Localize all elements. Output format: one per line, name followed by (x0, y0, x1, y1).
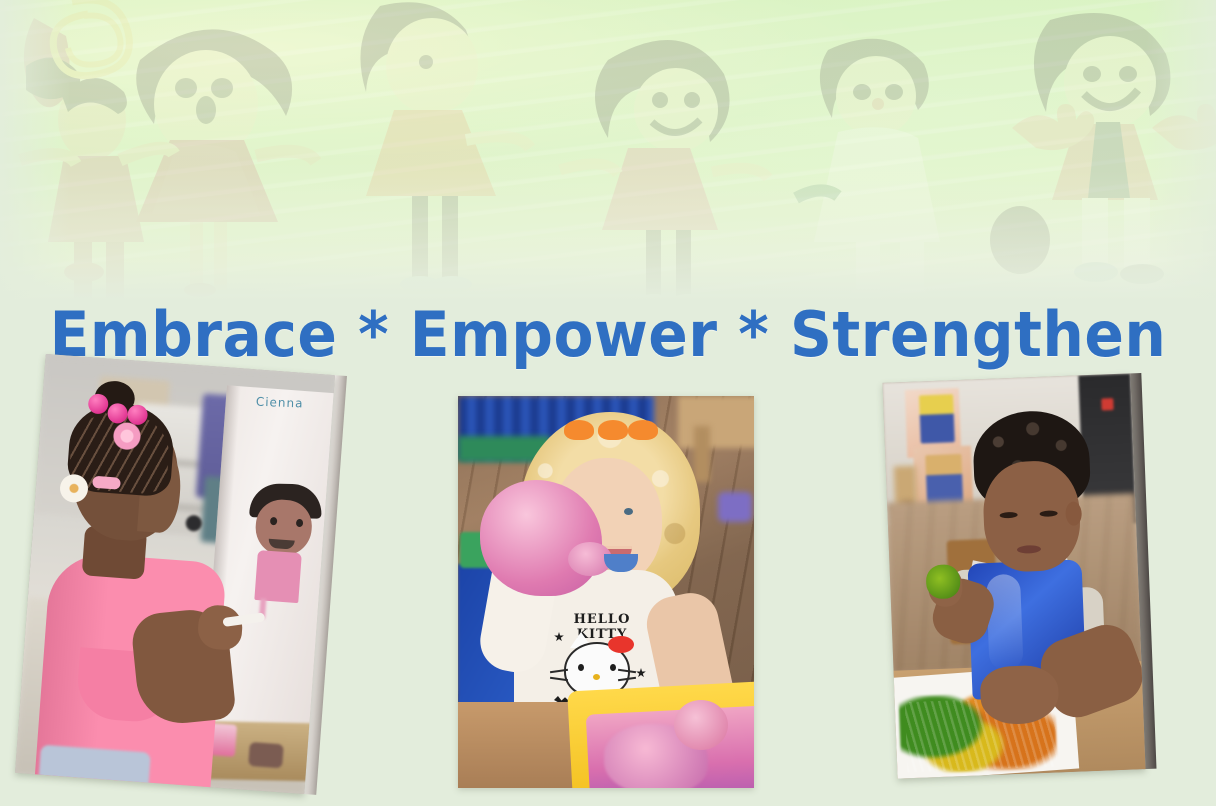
photo-girl-pink-foam: HELLO KITTY (458, 396, 754, 788)
banner-fade-overlay (0, 0, 1216, 310)
photo-toddler-finger-painting (882, 373, 1145, 778)
wooden-rack (678, 396, 754, 448)
painted-body (254, 550, 302, 603)
banner-left-fade (0, 0, 70, 310)
childrens-artwork-banner (0, 0, 1216, 310)
hair-bow (564, 420, 594, 440)
shirt-text: HELLO KITTY (550, 612, 654, 642)
page-root: Embrace * Empower * Strengthen Cienna (0, 0, 1216, 806)
green-paint-on-hand (926, 564, 961, 599)
hair-bow (598, 420, 628, 440)
pink-foam-second-hand (674, 700, 728, 750)
hair-bow (628, 420, 658, 440)
banner-right-fade (1146, 0, 1216, 310)
page-title: Embrace * Empower * Strengthen (36, 300, 1179, 370)
handwritten-name: Cienna (256, 395, 326, 412)
photo-girl-painting-easel: Cienna (15, 354, 335, 794)
